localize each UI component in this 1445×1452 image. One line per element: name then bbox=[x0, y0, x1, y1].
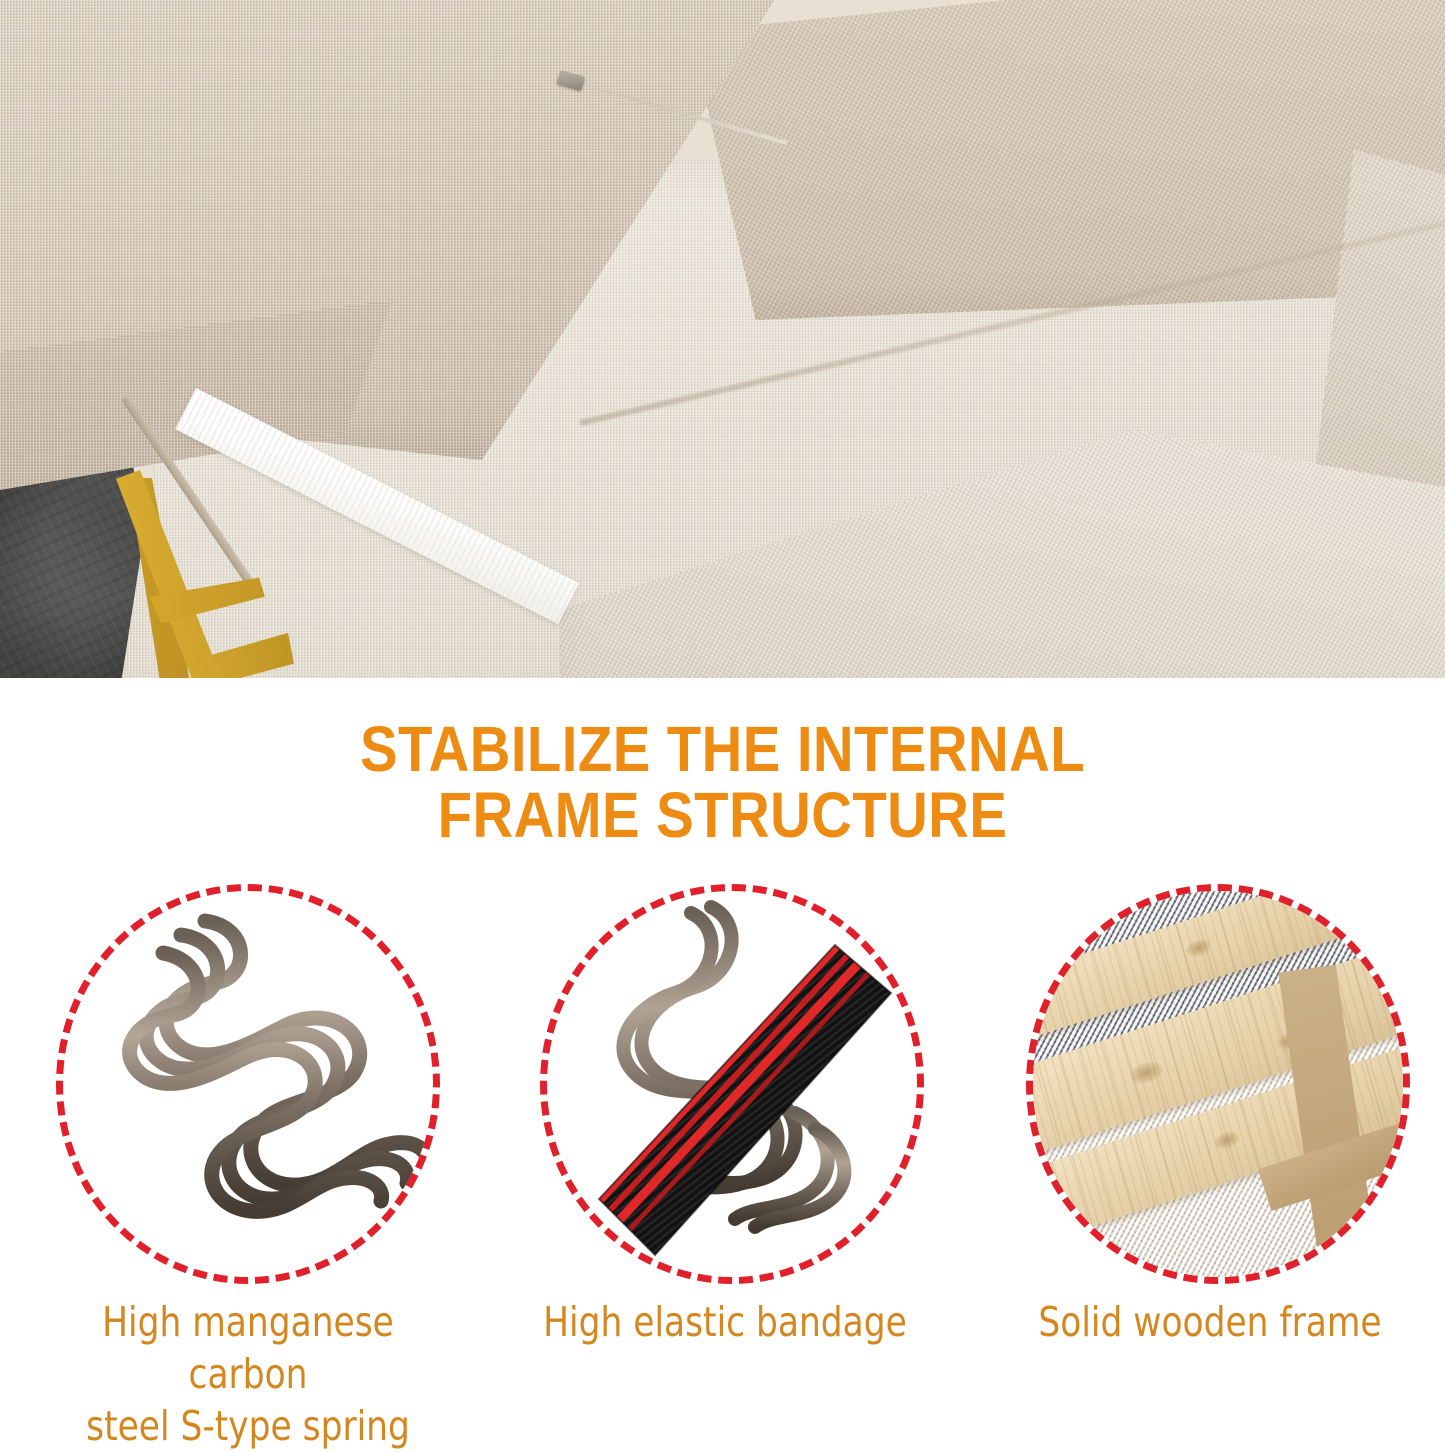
caption-wood-line-1: Solid wooden frame bbox=[1038, 1298, 1381, 1346]
feature-circle-spring bbox=[56, 884, 440, 1284]
headline-line-2: FRAME STRUCTURE bbox=[87, 782, 1359, 848]
caption-wood: Solid wooden frame bbox=[1013, 1296, 1408, 1348]
s-type-spring-icon bbox=[56, 884, 440, 1284]
product-photo bbox=[0, 0, 1445, 678]
feature-circle-bandage bbox=[540, 884, 924, 1284]
caption-spring-line-1: High manganese carbon bbox=[102, 1298, 394, 1398]
feature-circle-wood bbox=[1026, 884, 1410, 1284]
backrest-texture bbox=[690, 0, 1445, 320]
backrest-cushion bbox=[690, 0, 1445, 320]
caption-spring-line-2: steel S-type spring bbox=[86, 1402, 410, 1450]
page-title: STABILIZE THE INTERNAL FRAME STRUCTURE bbox=[87, 716, 1359, 848]
headline-line-1: STABILIZE THE INTERNAL bbox=[360, 713, 1085, 785]
caption-bandage: High elastic bandage bbox=[528, 1296, 923, 1348]
wooden-frame-icon bbox=[1026, 884, 1410, 1284]
feature-icons-row bbox=[0, 884, 1445, 1294]
elastic-bandage-icon bbox=[540, 884, 924, 1284]
feature-captions-row: High manganese carbon steel S-type sprin… bbox=[0, 1296, 1445, 1426]
caption-spring: High manganese carbon steel S-type sprin… bbox=[51, 1296, 446, 1452]
caption-bandage-line-1: High elastic bandage bbox=[543, 1298, 907, 1346]
